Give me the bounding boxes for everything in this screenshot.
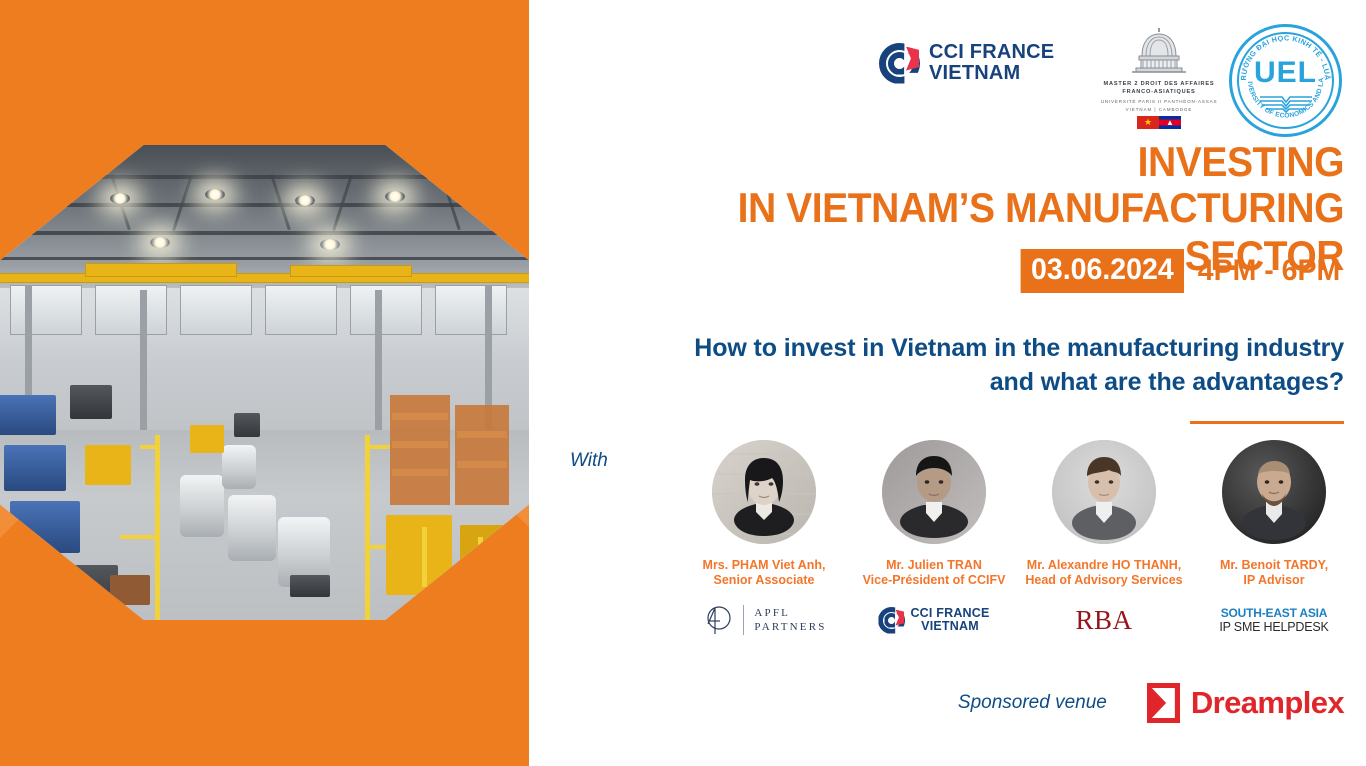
event-date-badge: 03.06.2024 <box>1020 249 1184 293</box>
event-datetime: 03.06.2024 4PM - 6PM <box>1012 249 1344 293</box>
avatar <box>1222 440 1326 544</box>
speaker-role: Senior Associate <box>679 573 849 588</box>
speaker-name: Mr. Julien TRAN Vice-Président of CCIFV <box>849 558 1019 588</box>
speaker-card: Mrs. PHAM Viet Anh, Senior Associate <box>679 440 849 643</box>
logo-rba: RBA <box>1075 605 1132 636</box>
cci-small-line1: CCI FRANCE <box>910 607 989 621</box>
speaker-card: Mr. Benoit TARDY, IP Advisor SOUTH-EAST … <box>1189 440 1359 643</box>
logo-paris-assas: MASTER 2 DROIT DES AFFAIRES FRANCO-ASIAT… <box>1099 26 1219 129</box>
title-line-1: INVESTING <box>586 140 1344 184</box>
speaker-name: Mr. Benoit TARDY, IP Advisor <box>1189 558 1359 588</box>
apfl-monogram-icon <box>701 604 733 636</box>
avatar <box>1052 440 1156 544</box>
helpdesk-line1: SOUTH-EAST ASIA <box>1219 606 1328 620</box>
cambodia-flag-icon: ▲ <box>1159 116 1181 129</box>
cci-small-line2: VIETNAM <box>910 620 989 634</box>
cci-logo-line1: CCI FRANCE <box>929 42 1054 63</box>
cci-logo-text: CCI FRANCE VIETNAM <box>929 42 1054 84</box>
logo-cci-france-vietnam: CCI FRANCE VIETNAM <box>879 42 1054 84</box>
speakers-list: Mrs. PHAM Viet Anh, Senior Associate <box>679 440 1359 643</box>
avatar <box>882 440 986 544</box>
speaker-org-logo: APFL PARTNERS <box>679 597 849 643</box>
with-label: With <box>570 450 608 472</box>
subtitle-line-2: and what are the advantages? <box>529 365 1344 399</box>
logo-cci-france-vietnam-small: CCI FRANCE VIETNAM <box>878 607 989 634</box>
uel-acronym: UEL <box>1229 58 1342 88</box>
cci-logo-icon <box>878 607 905 634</box>
event-subtitle: How to invest in Vietnam in the manufact… <box>529 331 1366 399</box>
speaker-name-line1: Mr. Julien TRAN <box>849 558 1019 573</box>
pantheon-dome-icon <box>1126 26 1192 78</box>
speaker-org-logo: SOUTH-EAST ASIA IP SME HELPDESK <box>1189 597 1359 643</box>
factory-interior-image <box>0 145 529 620</box>
subtitle-line-1: How to invest in Vietnam in the manufact… <box>529 331 1344 365</box>
logo-dreamplex: Dreamplex <box>1147 683 1344 723</box>
assas-logo-line3: VIETNAM | CAMBODGE <box>1099 107 1219 112</box>
cci-logo-line2: VIETNAM <box>929 63 1054 84</box>
dreamplex-wordmark: Dreamplex <box>1191 687 1344 719</box>
cci-logo-text: CCI FRANCE VIETNAM <box>910 607 989 634</box>
assas-logo-line1: MASTER 2 DROIT DES AFFAIRES FRANCO-ASIAT… <box>1099 81 1219 96</box>
apfl-logo-text: APFL PARTNERS <box>754 606 826 634</box>
assas-logo-line2: UNIVERSITÉ PARIS II PANTHÉON-ASSAS <box>1099 99 1219 104</box>
speaker-name-line1: Mr. Alexandre HO THANH, <box>1019 558 1189 573</box>
logo-ip-sme-helpdesk: SOUTH-EAST ASIA IP SME HELPDESK <box>1219 606 1328 634</box>
avatar <box>712 440 816 544</box>
partner-logos-header: CCI FRANCE VIETNAM <box>529 22 1366 140</box>
uel-book-icon <box>1258 94 1314 114</box>
speaker-name: Mrs. PHAM Viet Anh, Senior Associate <box>679 558 849 588</box>
sponsor-label: Sponsored venue <box>958 692 1107 714</box>
apfl-line2: PARTNERS <box>754 620 826 634</box>
speaker-name: Mr. Alexandre HO THANH, Head of Advisory… <box>1019 558 1189 588</box>
dreamplex-mark-icon <box>1147 683 1180 723</box>
factory-photo-hexagon <box>0 145 529 620</box>
vietnam-flag-icon: ★ <box>1137 116 1159 129</box>
helpdesk-line2: IP SME HELPDESK <box>1219 620 1328 634</box>
right-content-panel: CCI FRANCE VIETNAM <box>529 0 1366 766</box>
event-poster: CCI FRANCE VIETNAM <box>0 0 1366 766</box>
speaker-role: Vice-Président of CCIFV <box>849 573 1019 588</box>
speaker-card: Mr. Julien TRAN Vice-Président of CCIFV … <box>849 440 1019 643</box>
cci-logo-icon <box>879 43 920 84</box>
speaker-org-logo: RBA <box>1019 597 1189 643</box>
speaker-name-line1: Mrs. PHAM Viet Anh, <box>679 558 849 573</box>
logo-uel: ★ TRƯỜNG ĐẠI HỌC KINH TẾ - LUẬT ★ UNIVER… <box>1229 24 1342 137</box>
speaker-role: Head of Advisory Services <box>1019 573 1189 588</box>
speaker-org-logo: CCI FRANCE VIETNAM <box>849 597 1019 643</box>
speaker-role: IP Advisor <box>1189 573 1359 588</box>
apfl-line1: APFL <box>754 606 826 620</box>
speaker-card: Mr. Alexandre HO THANH, Head of Advisory… <box>1019 440 1189 643</box>
speaker-name-line1: Mr. Benoit TARDY, <box>1189 558 1359 573</box>
orange-divider <box>1190 421 1344 424</box>
left-orange-panel <box>0 0 529 766</box>
country-flags: ★ ▲ <box>1137 116 1181 129</box>
logo-apfl-partners: APFL PARTNERS <box>701 604 826 636</box>
sponsored-venue: Sponsored venue Dreamplex <box>958 683 1344 723</box>
event-time: 4PM - 6PM <box>1198 256 1341 286</box>
